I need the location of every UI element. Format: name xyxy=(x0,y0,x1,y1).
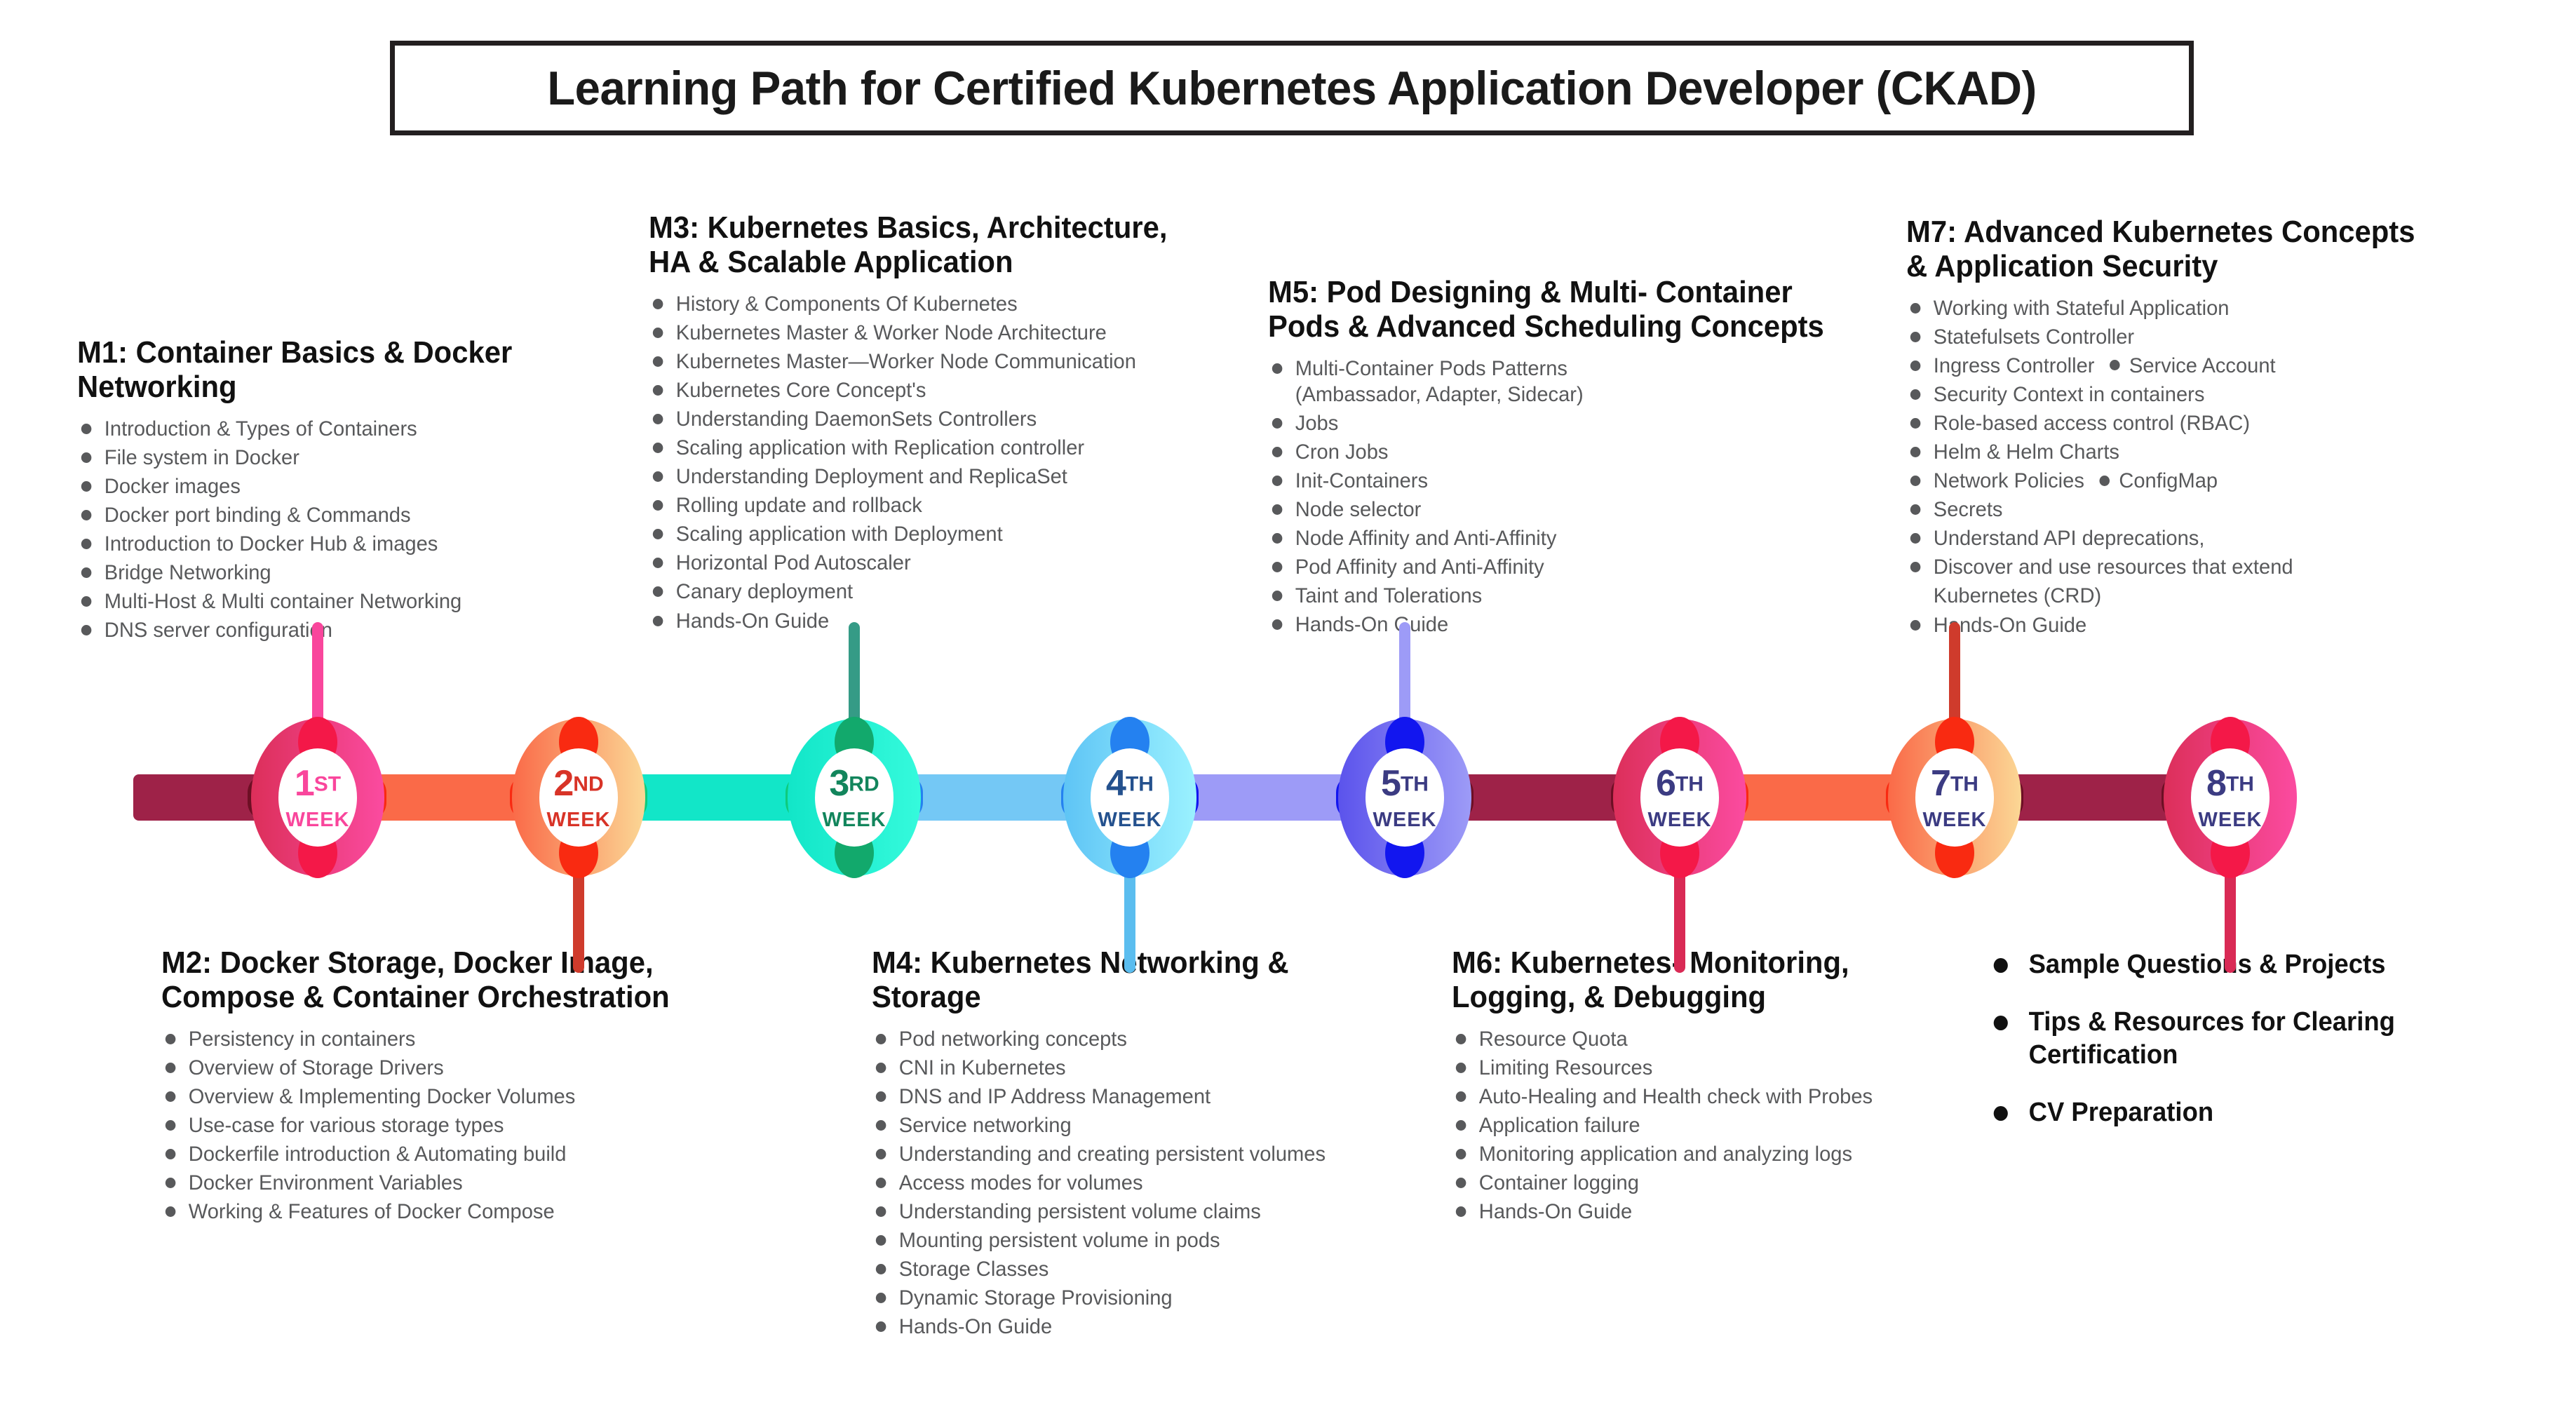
list-item: Understand API deprecations, xyxy=(1906,524,2478,553)
module-m6-heading: M6: Kubernetes- Monitoring, Logging, & D… xyxy=(1452,945,1978,1015)
week-node[interactable] xyxy=(2164,717,2297,973)
list-item: Dockerfile introduction & Automating bui… xyxy=(161,1140,760,1169)
bullet-icon xyxy=(1994,1016,2008,1030)
list-item-label: DNS server configuration xyxy=(104,619,332,642)
list-item: Docker port binding & Commands xyxy=(77,501,621,530)
list-item: Application failure xyxy=(1452,1111,1989,1140)
module-m3-list: History & Components Of KubernetesKubern… xyxy=(649,290,1217,635)
module-m5-list: Multi-Container Pods Patterns(Ambassador… xyxy=(1268,354,1885,640)
week-node[interactable] xyxy=(1063,717,1196,973)
list-item: Cron Jobs xyxy=(1268,438,1867,466)
list-item-label: Network Policies xyxy=(1934,469,2084,492)
list-item: History & Components Of Kubernetes xyxy=(649,290,1200,318)
bullet-icon xyxy=(653,299,663,309)
list-item-label: Access modes for volumes xyxy=(899,1171,1143,1194)
list-item: Container logging xyxy=(1452,1169,1989,1197)
list-item: Dynamic Storage Provisioning xyxy=(872,1284,1436,1312)
list-item: Secrets xyxy=(1906,495,2478,524)
list-item-label: Introduction to Docker Hub & images xyxy=(104,532,438,555)
bullet-icon xyxy=(1910,361,1921,371)
list-item: Resource Quota xyxy=(1452,1025,1989,1053)
week-word: WEEK xyxy=(1070,810,1189,830)
list-item-label: Cron Jobs xyxy=(1295,440,1389,464)
week-number: 6 xyxy=(1656,763,1675,804)
list-item-label: Service Account xyxy=(2129,354,2276,377)
bullet-icon xyxy=(1272,476,1283,486)
list-item-label: (Ambassador, Adapter, Sidecar) xyxy=(1295,383,1584,406)
week-node-label: 5THWEEK xyxy=(1345,765,1464,830)
list-item-label: Understanding persistent volume claims xyxy=(899,1200,1261,1223)
list-item: Multi-Host & Multi container Networking xyxy=(77,587,621,616)
bullet-icon xyxy=(1910,389,1921,400)
list-item: Persistency in containers xyxy=(161,1025,760,1053)
bullet-icon xyxy=(653,385,663,396)
page-title: Learning Path for Certified Kubernetes A… xyxy=(547,61,2037,116)
list-item: Overview & Implementing Docker Volumes xyxy=(161,1082,760,1111)
list-item-label: Canary deployment xyxy=(676,580,853,603)
list-item: Docker images xyxy=(77,472,621,501)
list-item-label: DNS and IP Address Management xyxy=(899,1085,1211,1108)
list-item: Network PoliciesConfigMap xyxy=(1906,466,2478,495)
list-item: Understanding and creating persistent vo… xyxy=(872,1140,1436,1169)
list-item-label: Node Affinity and Anti-Affinity xyxy=(1295,527,1557,550)
week-ordinal: RD xyxy=(849,773,879,796)
list-item-label: Overview & Implementing Docker Volumes xyxy=(189,1085,576,1108)
module-m2-heading: M2: Docker Storage, Docker Image, Compos… xyxy=(161,945,748,1015)
list-item: Pod networking concepts xyxy=(872,1025,1436,1053)
list-item: Understanding DaemonSets Controllers xyxy=(649,405,1200,433)
module-m5-heading: M5: Pod Designing & Multi- Container Pod… xyxy=(1268,275,1854,344)
title-box: Learning Path for Certified Kubernetes A… xyxy=(390,41,2194,135)
bullet-icon xyxy=(1272,447,1283,457)
list-item-label: Container logging xyxy=(1479,1171,1639,1194)
list-item: Taint and Tolerations xyxy=(1268,581,1867,610)
bullet-icon xyxy=(1272,562,1283,572)
week-node[interactable] xyxy=(1888,622,2021,878)
list-item: Canary deployment xyxy=(649,577,1200,606)
bullet-icon xyxy=(1910,303,1921,314)
list-item: Working with Stateful Application xyxy=(1906,294,2478,323)
list-item-label: Kubernetes Master—Worker Node Communicat… xyxy=(676,350,1136,373)
list-item-label: File system in Docker xyxy=(104,446,299,469)
week-ordinal: ND xyxy=(573,773,603,796)
week-ordinal: TH xyxy=(1675,773,1704,796)
week-word: WEEK xyxy=(258,810,377,830)
list-item-label: CNI in Kubernetes xyxy=(899,1056,1066,1079)
module-m2-list: Persistency in containersOverview of Sto… xyxy=(161,1025,778,1227)
list-item-label: Understanding and creating persistent vo… xyxy=(899,1143,1326,1166)
bullet-icon xyxy=(653,586,663,597)
list-item: Helm & Helm Charts xyxy=(1906,438,2478,466)
list-item-label: Bridge Networking xyxy=(104,561,271,584)
list-item-label: Taint and Tolerations xyxy=(1295,584,1482,607)
list-item: Understanding Deployment and ReplicaSet xyxy=(649,462,1200,491)
list-item-label: Discover and use resources that extend K… xyxy=(1934,555,2293,607)
week-number: 3 xyxy=(829,763,849,804)
list-item-label: Limiting Resources xyxy=(1479,1056,1652,1079)
bullet-icon xyxy=(166,1091,176,1102)
bullet-icon xyxy=(1272,533,1283,544)
bullet-icon xyxy=(1910,533,1921,544)
module-m1-list: Introduction & Types of ContainersFile s… xyxy=(77,415,638,645)
module-m1-heading: M1: Container Basics & Docker Networking xyxy=(77,335,610,405)
list-item: Access modes for volumes xyxy=(872,1169,1436,1197)
bullet-icon xyxy=(81,539,92,549)
bullet-icon xyxy=(1456,1149,1466,1159)
list-item: DNS server configuration xyxy=(77,616,621,645)
list-item-label: Docker port binding & Commands xyxy=(104,504,411,527)
list-item-label: Dynamic Storage Provisioning xyxy=(899,1286,1173,1309)
bullet-icon xyxy=(1456,1091,1466,1102)
list-item: Kubernetes Core Concept's xyxy=(649,376,1200,405)
list-item-label: History & Components Of Kubernetes xyxy=(676,292,1018,316)
list-item-label: Hands-On Guide xyxy=(1479,1200,1632,1223)
list-item-label: Understanding DaemonSets Controllers xyxy=(676,408,1037,431)
week-node-label: 7THWEEK xyxy=(1895,765,2014,830)
list-item-label: CV Preparation xyxy=(2029,1098,2214,1127)
bullet-icon xyxy=(81,452,92,463)
bullet-icon xyxy=(1272,363,1283,374)
bullet-icon xyxy=(1272,591,1283,601)
list-item-label: Ingress Controller xyxy=(1934,354,2095,377)
bullet-icon xyxy=(1456,1063,1466,1073)
list-item: Mounting persistent volume in pods xyxy=(872,1226,1436,1255)
list-item: Introduction to Docker Hub & images xyxy=(77,530,621,558)
week-number: 4 xyxy=(1106,763,1126,804)
bullet-icon xyxy=(876,1321,886,1332)
week-node-label: 3RDWEEK xyxy=(795,765,914,830)
list-item: Kubernetes Master & Worker Node Architec… xyxy=(649,318,1200,347)
module-m7: M7: Advanced Kubernetes Concepts & Appli… xyxy=(1906,215,2495,640)
list-item: Multi-Container Pods Patterns xyxy=(1268,354,1867,383)
week-word: WEEK xyxy=(1620,810,1739,830)
week-ordinal: TH xyxy=(1950,773,1978,796)
bullet-icon xyxy=(876,1264,886,1274)
week-ordinal: ST xyxy=(314,773,341,796)
bullet-icon xyxy=(653,328,663,338)
list-item-label: Introduction & Types of Containers xyxy=(104,417,417,440)
bullet-icon xyxy=(876,1091,886,1102)
list-item-label: ConfigMap xyxy=(2119,469,2218,492)
list-item-label: Use-case for various storage types xyxy=(189,1114,504,1137)
list-item: CNI in Kubernetes xyxy=(872,1053,1436,1082)
bullet-icon xyxy=(653,356,663,367)
list-item: Limiting Resources xyxy=(1452,1053,1989,1082)
final-highlights-list: Sample Questions & ProjectsTips & Resour… xyxy=(1988,948,2493,1129)
list-item-label: Mounting persistent volume in pods xyxy=(899,1229,1220,1252)
week-word: WEEK xyxy=(1895,810,2014,830)
list-item: Horizontal Pod Autoscaler xyxy=(649,548,1200,577)
list-item-label: Security Context in containers xyxy=(1934,383,2205,406)
bullet-icon xyxy=(653,443,663,453)
list-item-label: Multi-Container Pods Patterns xyxy=(1295,357,1567,380)
week-word: WEEK xyxy=(1345,810,1464,830)
list-item-label: Jobs xyxy=(1295,412,1338,435)
bullet-icon xyxy=(1456,1034,1466,1044)
bullet-icon xyxy=(653,414,663,424)
list-item: Discover and use resources that extend K… xyxy=(1906,553,2478,610)
list-item: Jobs xyxy=(1268,409,1867,438)
list-item-label: Horizontal Pod Autoscaler xyxy=(676,551,911,574)
list-item: Pod Affinity and Anti-Affinity xyxy=(1268,553,1867,581)
list-item-label: Scaling application with Replication con… xyxy=(676,436,1084,459)
list-item-label: Monitoring application and analyzing log… xyxy=(1479,1143,1852,1166)
module-m4: M4: Kubernetes Networking & Storage Pod … xyxy=(872,945,1454,1342)
list-item: Kubernetes Master—Worker Node Communicat… xyxy=(649,347,1200,376)
week-number: 7 xyxy=(1931,763,1950,804)
bullet-icon xyxy=(1272,619,1283,630)
week-node-label: 8THWEEK xyxy=(2171,765,2290,830)
list-item: Hands-On Guide xyxy=(872,1312,1436,1341)
week-node[interactable] xyxy=(251,622,384,878)
list-item: Node Affinity and Anti-Affinity xyxy=(1268,524,1867,553)
bullet-icon xyxy=(1994,1106,2008,1121)
list-item-label: Understanding Deployment and ReplicaSet xyxy=(676,465,1067,488)
bullet-icon xyxy=(1994,958,2008,973)
list-item: Role-based access control (RBAC) xyxy=(1906,409,2478,438)
list-item-label: Resource Quota xyxy=(1479,1028,1628,1051)
list-item-label: Tips & Resources for Clearing Certificat… xyxy=(2029,1007,2395,1069)
list-item: Working & Features of Docker Compose xyxy=(161,1197,760,1226)
bullet-icon xyxy=(81,510,92,520)
list-item: File system in Docker xyxy=(77,443,621,472)
list-item-label: Init-Containers xyxy=(1295,469,1428,492)
bullet-icon xyxy=(653,616,663,626)
bullet-icon xyxy=(653,500,663,511)
list-item: Scaling application with Replication con… xyxy=(649,433,1200,462)
week-number: 1 xyxy=(295,763,314,804)
bullet-icon xyxy=(1910,504,1921,515)
list-item-label: Auto-Healing and Health check with Probe… xyxy=(1479,1085,1873,1108)
list-item-label: Storage Classes xyxy=(899,1258,1049,1281)
module-m7-list: Working with Stateful ApplicationStatefu… xyxy=(1906,294,2495,640)
bullet-icon xyxy=(166,1178,176,1188)
list-item: Service networking xyxy=(872,1111,1436,1140)
list-item: Hands-On Guide xyxy=(1268,610,1867,639)
list-item-label: Multi-Host & Multi container Networking xyxy=(104,590,461,613)
list-item: Security Context in containers xyxy=(1906,380,2478,409)
module-m2: M2: Docker Storage, Docker Image, Compos… xyxy=(161,945,778,1226)
week-number: 8 xyxy=(2206,763,2226,804)
list-item-label: Rolling update and rollback xyxy=(676,494,922,517)
final-highlights: Sample Questions & ProjectsTips & Resour… xyxy=(1988,948,2493,1154)
list-item: Hands-On Guide xyxy=(1452,1197,1989,1226)
week-ordinal: TH xyxy=(2226,773,2254,796)
list-item-label: Role-based access control (RBAC) xyxy=(1934,412,2250,435)
week-node-label: 6THWEEK xyxy=(1620,765,1739,830)
week-number: 2 xyxy=(553,763,573,804)
list-item-label: Persistency in containers xyxy=(189,1028,415,1051)
week-word: WEEK xyxy=(2171,810,2290,830)
list-item-label: Application failure xyxy=(1479,1114,1640,1137)
bullet-icon xyxy=(81,567,92,578)
list-item-label: Hands-On Guide xyxy=(1934,614,2086,637)
week-node[interactable] xyxy=(512,717,645,973)
bullet-icon xyxy=(1910,562,1921,572)
list-item-label: Service networking xyxy=(899,1114,1072,1137)
bullet-icon xyxy=(81,424,92,434)
list-item-label: Kubernetes Core Concept's xyxy=(676,379,926,402)
list-item: Tips & Resources for Clearing Certificat… xyxy=(1988,1006,2473,1071)
list-item: Sample Questions & Projects xyxy=(1988,948,2473,981)
list-item-label: Working & Features of Docker Compose xyxy=(189,1200,555,1223)
list-item: DNS and IP Address Management xyxy=(872,1082,1436,1111)
bullet-icon xyxy=(653,529,663,539)
list-item: Storage Classes xyxy=(872,1255,1436,1284)
bullet-icon xyxy=(1456,1178,1466,1188)
module-m6: M6: Kubernetes- Monitoring, Logging, & D… xyxy=(1452,945,2006,1226)
list-item: Statefulsets Controller xyxy=(1906,323,2478,351)
bullet-icon xyxy=(166,1063,176,1073)
bullet-icon xyxy=(1910,476,1921,486)
bullet-icon xyxy=(166,1120,176,1131)
list-item-label: Secrets xyxy=(1934,498,2003,521)
week-node-label: 2NDWEEK xyxy=(519,765,638,830)
list-item-label: Working with Stateful Application xyxy=(1934,297,2230,320)
list-item: Node selector xyxy=(1268,495,1867,524)
module-m3: M3: Kubernetes Basics, Architecture, HA … xyxy=(649,210,1217,635)
list-item: Use-case for various storage types xyxy=(161,1111,760,1140)
list-item: Overview of Storage Drivers xyxy=(161,1053,760,1082)
week-word: WEEK xyxy=(519,810,638,830)
bullet-icon xyxy=(1910,418,1921,429)
week-node-label: 4THWEEK xyxy=(1070,765,1189,830)
list-item: Bridge Networking xyxy=(77,558,621,587)
module-m6-list: Resource QuotaLimiting ResourcesAuto-Hea… xyxy=(1452,1025,2006,1227)
bullet-icon xyxy=(81,481,92,492)
module-m7-heading: M7: Advanced Kubernetes Concepts & Appli… xyxy=(1906,215,2466,284)
list-item: Hands-On Guide xyxy=(649,607,1200,635)
bullet-icon xyxy=(1910,620,1921,631)
list-item: Introduction & Types of Containers xyxy=(77,415,621,443)
bullet-icon xyxy=(876,1293,886,1303)
list-item-label: Hands-On Guide xyxy=(1295,613,1448,636)
list-item-label: Helm & Helm Charts xyxy=(1934,440,2119,464)
list-item-label: Hands-On Guide xyxy=(899,1315,1052,1338)
list-item: Scaling application with Deployment xyxy=(649,520,1200,548)
list-item: Init-Containers xyxy=(1268,466,1867,495)
bullet-icon xyxy=(1272,504,1283,515)
week-ordinal: TH xyxy=(1126,773,1154,796)
module-m1: M1: Container Basics & Docker Networking… xyxy=(77,335,638,645)
bullet-icon xyxy=(876,1120,886,1131)
list-item-label: Hands-On Guide xyxy=(676,610,829,633)
bullet-icon xyxy=(653,558,663,568)
list-item-label: Sample Questions & Projects xyxy=(2029,950,2386,979)
bullet-icon xyxy=(653,471,663,482)
list-item-label: Understand API deprecations, xyxy=(1934,527,2205,550)
bullet-icon xyxy=(1456,1206,1466,1217)
week-word: WEEK xyxy=(795,810,914,830)
list-item: Rolling update and rollback xyxy=(649,491,1200,520)
list-item-label: Scaling application with Deployment xyxy=(676,523,1003,546)
week-node[interactable] xyxy=(1613,717,1746,973)
module-m4-list: Pod networking conceptsCNI in Kubernetes… xyxy=(872,1025,1454,1342)
bullet-icon xyxy=(1456,1120,1466,1131)
module-m5: M5: Pod Designing & Multi- Container Pod… xyxy=(1268,275,1885,639)
list-item: Docker Environment Variables xyxy=(161,1169,760,1197)
list-item: Monitoring application and analyzing log… xyxy=(1452,1140,1989,1169)
list-item-label: Statefulsets Controller xyxy=(1934,325,2134,349)
bullet-icon xyxy=(876,1063,886,1073)
list-item-label: Dockerfile introduction & Automating bui… xyxy=(189,1143,567,1166)
bullet-icon xyxy=(876,1149,886,1159)
week-node-label: 1STWEEK xyxy=(258,765,377,830)
module-m3-heading: M3: Kubernetes Basics, Architecture, HA … xyxy=(649,210,1189,280)
list-item: (Ambassador, Adapter, Sidecar) xyxy=(1268,380,1867,409)
list-item-label: Pod Affinity and Anti-Affinity xyxy=(1295,555,1544,579)
bullet-icon xyxy=(1910,332,1921,342)
bullet-icon xyxy=(166,1149,176,1159)
list-item-label: Pod networking concepts xyxy=(899,1028,1127,1051)
module-m4-heading: M4: Kubernetes Networking & Storage xyxy=(872,945,1425,1015)
list-item-label: Kubernetes Master & Worker Node Architec… xyxy=(676,321,1107,344)
list-item: Ingress ControllerService Account xyxy=(1906,351,2478,380)
week-node[interactable] xyxy=(788,622,921,878)
list-item: Auto-Healing and Health check with Probe… xyxy=(1452,1082,1989,1111)
bullet-icon xyxy=(876,1206,886,1217)
week-ordinal: TH xyxy=(1401,773,1429,796)
list-item-label: Node selector xyxy=(1295,498,1422,521)
week-node[interactable] xyxy=(1338,622,1471,878)
bullet-icon xyxy=(876,1178,886,1188)
list-item: Hands-On Guide xyxy=(1906,611,2478,640)
list-item: CV Preparation xyxy=(1988,1096,2473,1129)
bullet-icon xyxy=(2110,360,2120,370)
bullet-icon xyxy=(876,1235,886,1246)
bullet-icon xyxy=(166,1034,176,1044)
list-item-label: Docker Environment Variables xyxy=(189,1171,463,1194)
week-number: 5 xyxy=(1381,763,1401,804)
list-item: Understanding persistent volume claims xyxy=(872,1197,1436,1226)
bullet-icon xyxy=(1272,418,1283,429)
bullet-icon xyxy=(2099,476,2110,486)
list-item-label: Docker images xyxy=(104,475,241,498)
bullet-icon xyxy=(81,625,92,635)
bullet-icon xyxy=(81,596,92,607)
bullet-icon xyxy=(876,1034,886,1044)
bullet-icon xyxy=(166,1206,176,1217)
bullet-icon xyxy=(1910,447,1921,457)
list-item-label: Overview of Storage Drivers xyxy=(189,1056,444,1079)
